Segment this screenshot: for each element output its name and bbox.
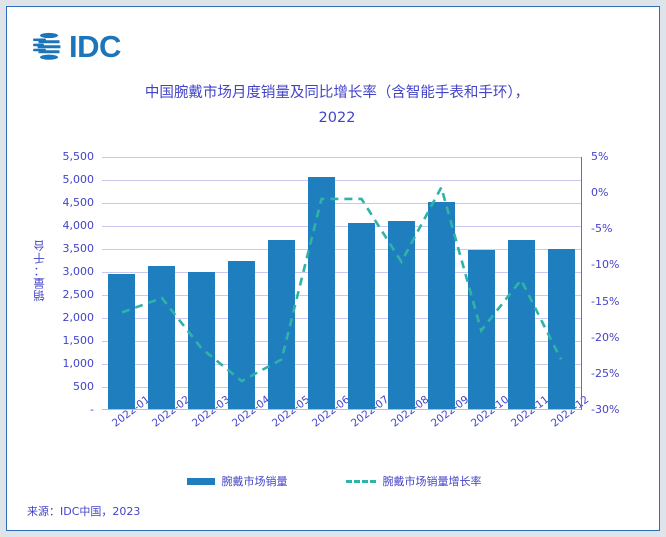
logo-wordmark: IDC — [69, 29, 121, 63]
y-axis-right-tick-label: -20% — [591, 331, 619, 344]
y-axis-left-tick-label: 5,000 — [34, 173, 94, 186]
growth-polyline — [122, 187, 561, 381]
y-axis-left-tick-label: 1,000 — [34, 357, 94, 370]
title-line-2: 2022 — [67, 106, 607, 131]
y-axis-left-tick-label: 4,500 — [34, 196, 94, 209]
plot-area — [102, 157, 581, 410]
y-axis-right-tick-label: -25% — [591, 367, 619, 380]
legend-label-growth: 腕戴市场销量增长率 — [383, 473, 482, 489]
y-axis-left-tick-label: 1,500 — [34, 334, 94, 347]
y-axis-right-tick-label: -5% — [591, 222, 612, 235]
source-note: 来源：IDC中国，2023 — [27, 503, 140, 519]
y-axis-left-tick-label: 500 — [34, 380, 94, 393]
title-line-1: 中国腕戴市场月度销量及同比增长率（含智能手表和手环）， — [67, 81, 607, 106]
y-axis-left-tick-label: 2,500 — [34, 288, 94, 301]
right-axis-line — [581, 157, 583, 410]
y-axis-left-tick-label: - — [34, 403, 94, 416]
legend-item-sales[interactable]: 腕戴市场销量 — [187, 473, 288, 489]
globe-icon: IDC — [33, 29, 151, 63]
legend-line-swatch — [346, 480, 376, 483]
growth-line-series — [102, 157, 581, 410]
y-axis-left-tick-label: 3,000 — [34, 265, 94, 278]
legend-bar-swatch — [187, 478, 215, 485]
y-axis-right-tick-label: -30% — [591, 403, 619, 416]
x-axis-baseline — [102, 409, 581, 411]
y-axis-right-tick-label: 0% — [591, 186, 608, 199]
legend-item-growth[interactable]: 腕戴市场销量增长率 — [346, 473, 482, 489]
legend-label-sales: 腕戴市场销量 — [222, 473, 288, 489]
y-axis-left-tick-label: 3,500 — [34, 242, 94, 255]
y-axis-right-tick-label: -15% — [591, 295, 619, 308]
idc-logo: IDC — [33, 29, 151, 63]
chart-card: IDC 中国腕戴市场月度销量及同比增长率（含智能手表和手环）， 2022 销量：… — [6, 6, 660, 531]
page-title: 中国腕戴市场月度销量及同比增长率（含智能手表和手环）， 2022 — [67, 81, 607, 131]
y-axis-left-tick-label: 2,000 — [34, 311, 94, 324]
y-axis-left-tick-label: 4,000 — [34, 219, 94, 232]
y-axis-left-tick-label: 5,500 — [34, 150, 94, 163]
y-axis-right-tick-label: 5% — [591, 150, 608, 163]
chart-legend: 腕戴市场销量 腕戴市场销量增长率 — [7, 473, 661, 489]
y-axis-right-tick-label: -10% — [591, 258, 619, 271]
